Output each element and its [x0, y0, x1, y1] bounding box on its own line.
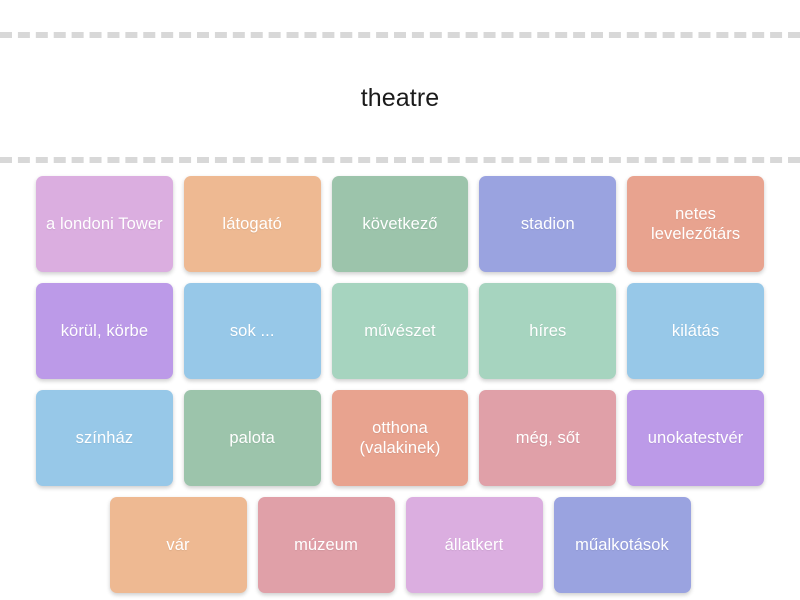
word-tile-label: művészet — [364, 321, 435, 341]
tile-row: körül, körbesok ...művészethíreskilátás — [36, 283, 764, 379]
word-tile[interactable]: unokatestvér — [627, 390, 764, 486]
word-tile[interactable]: körül, körbe — [36, 283, 173, 379]
word-tile-label: még, sőt — [516, 428, 580, 448]
tile-row: vármúzeumállatkertműalkotások — [36, 497, 764, 593]
word-tile[interactable]: otthona (valakinek) — [332, 390, 469, 486]
word-tile-label: színház — [76, 428, 134, 448]
word-tile-label: múzeum — [294, 535, 358, 555]
word-tile-label: kilátás — [672, 321, 719, 341]
word-tile-label: a londoni Tower — [46, 214, 163, 234]
prompt-band: theatre — [0, 32, 800, 163]
tile-board: a londoni Towerlátogatókövetkezőstadionn… — [0, 163, 800, 600]
word-tile[interactable]: stadion — [479, 176, 616, 272]
word-tile[interactable]: netes levelezőtárs — [627, 176, 764, 272]
word-tile-label: következő — [362, 214, 437, 234]
word-tile-label: vár — [166, 535, 189, 555]
word-tile-label: körül, körbe — [61, 321, 148, 341]
word-tile-label: netes levelezőtárs — [634, 204, 757, 244]
prompt-text: theatre — [361, 83, 440, 113]
word-tile[interactable]: művészet — [332, 283, 469, 379]
word-tile-label: sok ... — [230, 321, 275, 341]
word-tile[interactable]: a londoni Tower — [36, 176, 173, 272]
word-tile[interactable]: állatkert — [406, 497, 543, 593]
word-tile[interactable]: vár — [110, 497, 247, 593]
word-tile[interactable]: híres — [479, 283, 616, 379]
word-tile-label: látogató — [222, 214, 282, 234]
word-tile-label: stadion — [521, 214, 575, 234]
tile-row: a londoni Towerlátogatókövetkezőstadionn… — [36, 176, 764, 272]
word-tile-label: unokatestvér — [648, 428, 744, 448]
word-tile-label: palota — [229, 428, 275, 448]
word-tile-label: állatkert — [445, 535, 504, 555]
tile-row: színházpalotaotthona (valakinek)még, sőt… — [36, 390, 764, 486]
word-tile[interactable]: következő — [332, 176, 469, 272]
word-tile[interactable]: színház — [36, 390, 173, 486]
word-tile-label: híres — [529, 321, 566, 341]
word-tile[interactable]: látogató — [184, 176, 321, 272]
word-tile[interactable]: múzeum — [258, 497, 395, 593]
word-tile[interactable]: kilátás — [627, 283, 764, 379]
word-tile[interactable]: palota — [184, 390, 321, 486]
word-tile[interactable]: még, sőt — [479, 390, 616, 486]
word-tile[interactable]: sok ... — [184, 283, 321, 379]
word-tile-label: műalkotások — [575, 535, 669, 555]
word-tile[interactable]: műalkotások — [554, 497, 691, 593]
activity-screen: theatre a londoni Towerlátogatókövetkező… — [0, 0, 800, 600]
word-tile-label: otthona (valakinek) — [339, 418, 462, 458]
